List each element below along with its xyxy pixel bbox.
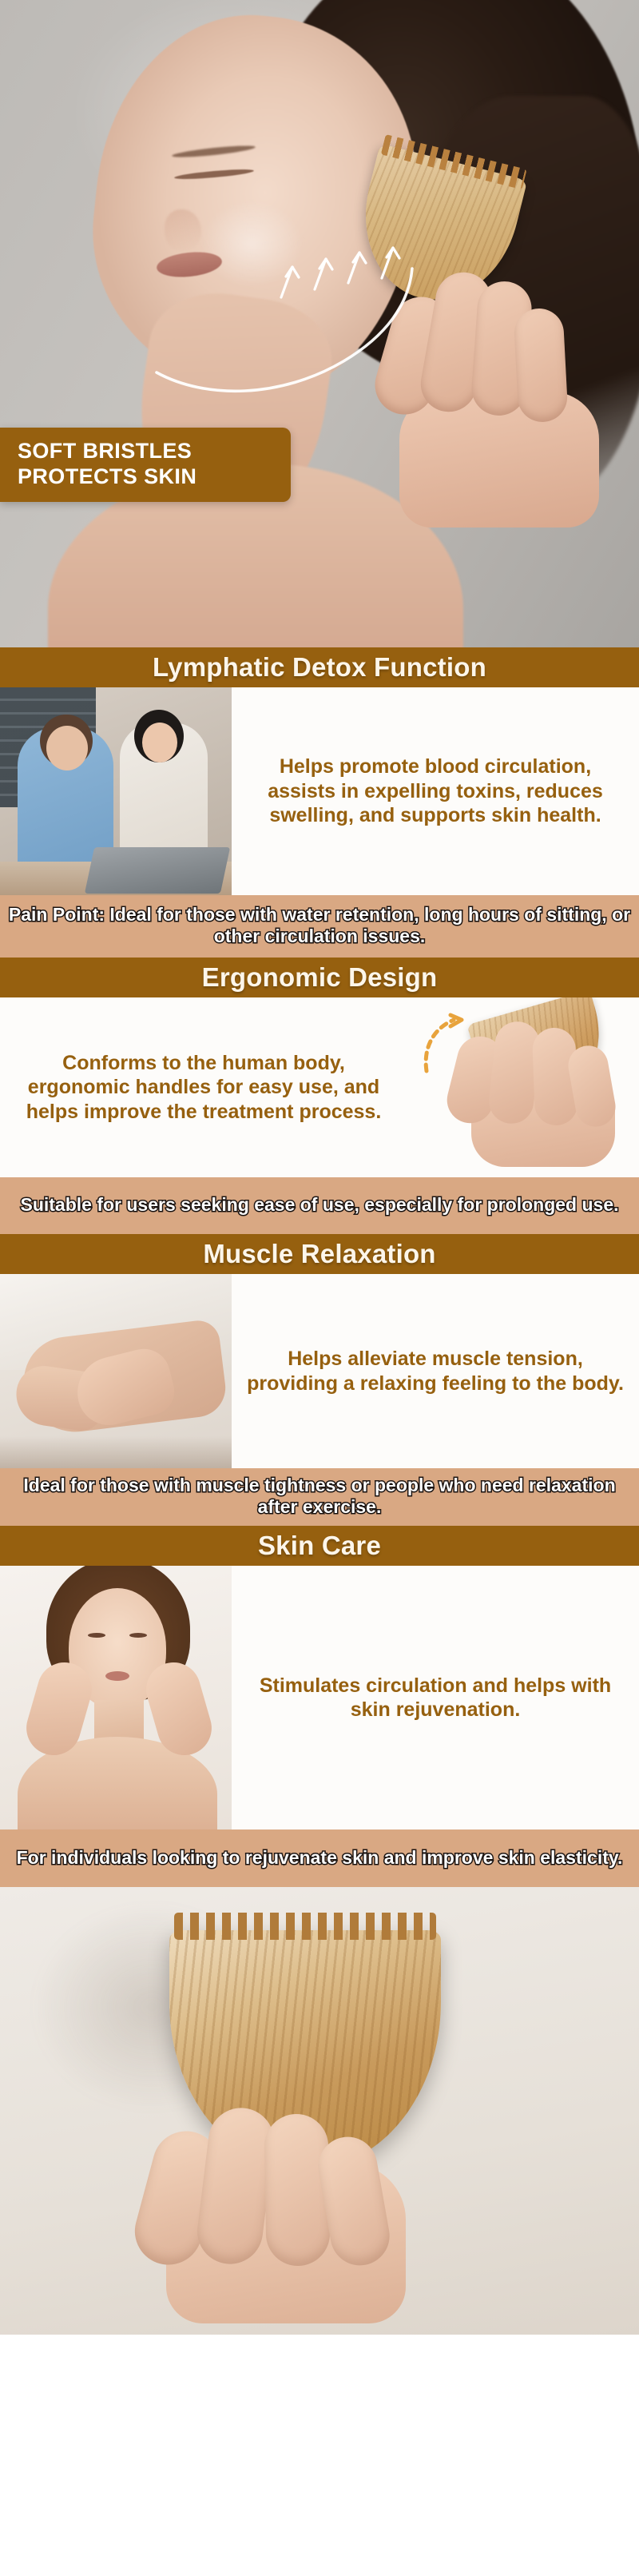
- section-body-wrap-4: Stimulates circulation and helps with sk…: [232, 1566, 639, 1829]
- section-strip-2: Suitable for users seeking ease of use, …: [0, 1177, 639, 1234]
- section-panel-2: Conforms to the human body, ergonomic ha…: [0, 997, 639, 1177]
- section-body-wrap-2: Conforms to the human body, ergonomic ha…: [0, 997, 407, 1177]
- footer-product-photo: [0, 1887, 639, 2335]
- strip-text: Ideal for those with muscle tightness or…: [8, 1475, 631, 1517]
- woman-touching-face-photo: [0, 1566, 232, 1829]
- badge-line-1: SOFT BRISTLES: [18, 439, 270, 464]
- section-title: Muscle Relaxation: [203, 1239, 435, 1269]
- section-body-text: Conforms to the human body, ergonomic ha…: [14, 1051, 393, 1125]
- lifting-arrows-icon: [0, 0, 639, 647]
- section-panel-1: Helps promote blood circulation, assists…: [0, 687, 639, 895]
- strip-text: Suitable for users seeking ease of use, …: [20, 1194, 618, 1216]
- section-header-skin-care: Skin Care: [0, 1526, 639, 1566]
- soft-bristles-badge: SOFT BRISTLES PROTECTS SKIN: [0, 428, 291, 502]
- section-header-lymphatic-detox-function: Lymphatic Detox Function: [0, 647, 639, 687]
- section-title: Lymphatic Detox Function: [153, 652, 486, 683]
- section-body-wrap-1: Helps promote blood circulation, assists…: [232, 687, 639, 895]
- section-panel-3: Helps alleviate muscle tension, providin…: [0, 1274, 639, 1468]
- shadow: [0, 1436, 232, 1468]
- finger: [264, 2113, 330, 2266]
- hero-section: SOFT BRISTLES PROTECTS SKIN: [0, 0, 639, 647]
- male-face: [46, 726, 88, 770]
- section-body-text: Stimulates circulation and helps with sk…: [246, 1674, 625, 1722]
- female-face: [142, 723, 177, 762]
- section-panel-4: Stimulates circulation and helps with sk…: [0, 1566, 639, 1829]
- section-strip-3: Ideal for those with muscle tightness or…: [0, 1468, 639, 1526]
- section-body-text: Helps alleviate muscle tension, providin…: [246, 1347, 625, 1395]
- lips: [105, 1671, 129, 1681]
- eye: [129, 1633, 147, 1638]
- section-body-wrap-3: Helps alleviate muscle tension, providin…: [232, 1274, 639, 1468]
- leg-massage-photo: [0, 1274, 232, 1468]
- section-strip-1: Pain Point: Ideal for those with water r…: [0, 895, 639, 958]
- badge-line-2: PROTECTS SKIN: [18, 464, 270, 490]
- section-header-muscle-relaxation: Muscle Relaxation: [0, 1234, 639, 1274]
- strip-text: Pain Point: Ideal for those with water r…: [8, 904, 631, 946]
- hand-holding-gua-sha-photo: [407, 997, 639, 1177]
- strip-text: For individuals looking to rejuvenate sk…: [17, 1847, 623, 1869]
- section-title: Skin Care: [258, 1531, 381, 1561]
- tool-bristles: [174, 1913, 436, 1940]
- section-header-ergonomic-design: Ergonomic Design: [0, 958, 639, 997]
- laptop-icon: [85, 847, 230, 894]
- eye: [88, 1633, 105, 1638]
- section-title: Ergonomic Design: [202, 962, 438, 993]
- section-body-text: Helps promote blood circulation, assists…: [246, 754, 625, 828]
- section-strip-4: For individuals looking to rejuvenate sk…: [0, 1829, 639, 1887]
- hand-holding-tool: [120, 2087, 455, 2327]
- office-workers-photo: [0, 687, 232, 895]
- infographic-page: SOFT BRISTLES PROTECTS SKIN Lymphatic De…: [0, 0, 639, 2576]
- curved-arrow-icon: [419, 1012, 470, 1076]
